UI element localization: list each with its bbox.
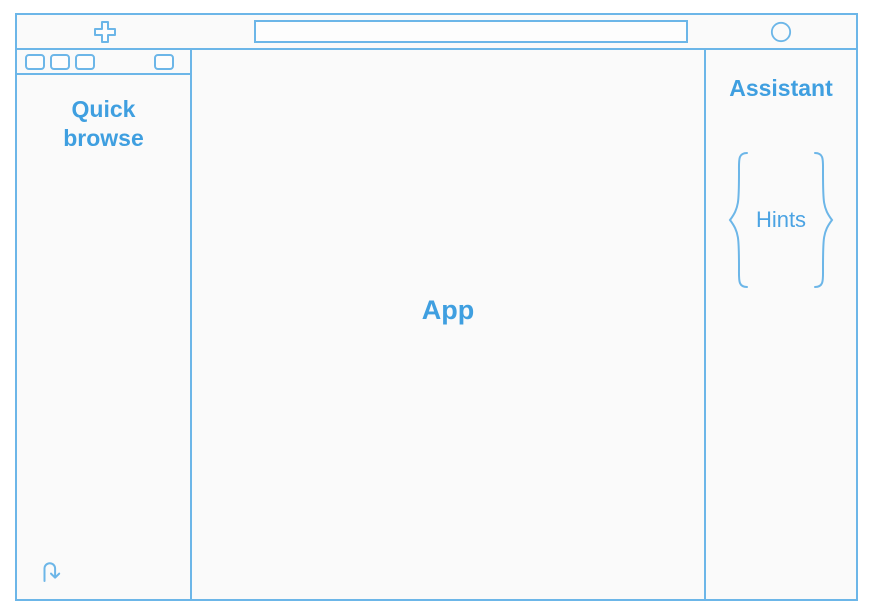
toolbar-button-2[interactable] <box>50 54 70 70</box>
sidebar-footer <box>17 543 190 599</box>
right-curly-brace-icon <box>810 150 836 290</box>
hints-label: Hints <box>752 207 810 233</box>
plus-icon[interactable] <box>93 20 117 44</box>
assistant-panel: Assistant Hints <box>706 50 856 599</box>
address-bar-input[interactable] <box>254 20 688 43</box>
circle-avatar-icon[interactable] <box>770 21 792 43</box>
toolbar-button-1[interactable] <box>25 54 45 70</box>
browser-window-frame: Quick browse App Assistant <box>15 13 858 601</box>
assistant-title: Assistant <box>729 75 833 102</box>
u-turn-arrow-icon[interactable] <box>37 557 65 585</box>
sidebar-quick-browse: Quick browse <box>17 50 192 599</box>
app-label: App <box>422 295 474 326</box>
sidebar-content-area <box>17 154 190 543</box>
titlebar <box>17 15 856 50</box>
sidebar-title: Quick browse <box>17 75 190 154</box>
hints-block: Hints <box>706 150 856 290</box>
toolbar-button-3[interactable] <box>75 54 95 70</box>
sidebar-title-line-1: Quick <box>31 95 176 124</box>
sidebar-title-line-2: browse <box>31 124 176 153</box>
window-body: Quick browse App Assistant <box>17 50 856 599</box>
toolbar-button-4[interactable] <box>154 54 174 70</box>
sidebar-toolbar <box>17 50 190 75</box>
titlebar-left-section <box>17 15 192 48</box>
titlebar-address-section <box>192 15 706 48</box>
titlebar-right-section <box>706 15 856 48</box>
app-content-panel: App <box>192 50 706 599</box>
left-curly-brace-icon <box>726 150 752 290</box>
